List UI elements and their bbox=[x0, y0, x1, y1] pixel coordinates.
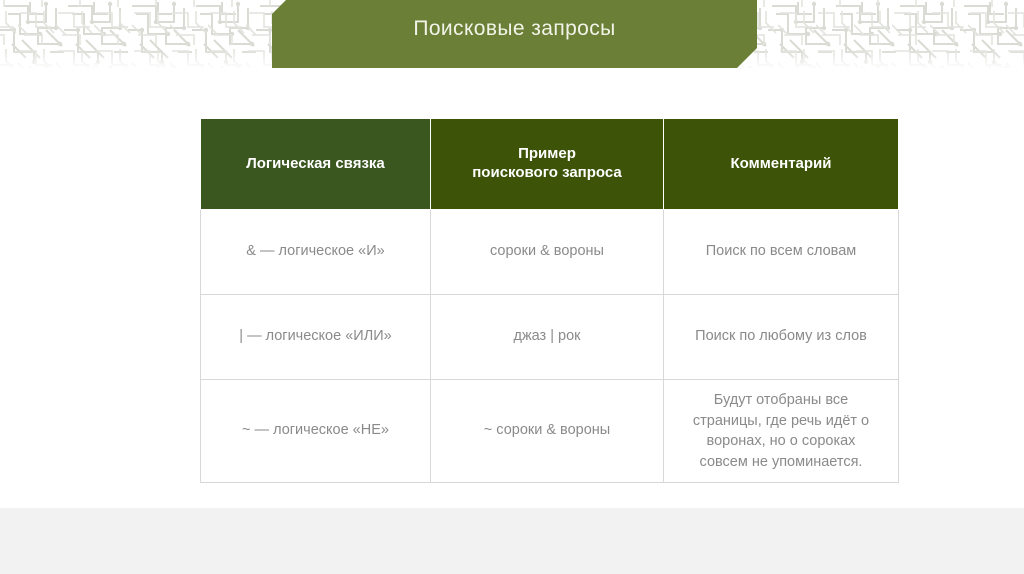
page-title: Поисковые запросы bbox=[413, 17, 615, 51]
search-operators-table: Логическая связка Пример поискового запр… bbox=[200, 118, 899, 483]
column-header-comment: Комментарий bbox=[664, 119, 899, 210]
bottom-band bbox=[0, 508, 1024, 574]
column-header-operator: Логическая связка bbox=[201, 119, 431, 210]
column-header-example: Пример поискового запроса bbox=[431, 119, 664, 210]
cell-comment-3: Будут отобраны все страницы, где речь ид… bbox=[664, 380, 899, 483]
cell-operator-3: ~ — логическое «НЕ» bbox=[201, 380, 431, 483]
column-header-example-line-1: Пример bbox=[439, 145, 655, 164]
cell-comment-3-line-1: Будут отобраны все bbox=[672, 390, 890, 411]
cell-example-2: джаз | рок bbox=[431, 295, 664, 380]
column-header-example-line-2: поискового запроса bbox=[439, 164, 655, 183]
cell-comment-1: Поиск по всем словам bbox=[664, 210, 899, 295]
title-banner: Поисковые запросы bbox=[272, 0, 757, 68]
table-row: & — логическое «И» сороки & вороны Поиск… bbox=[201, 210, 899, 295]
table-row: ~ — логическое «НЕ» ~ сороки & вороны Бу… bbox=[201, 380, 899, 483]
table-row: | — логическое «ИЛИ» джаз | рок Поиск по… bbox=[201, 295, 899, 380]
cell-operator-1: & — логическое «И» bbox=[201, 210, 431, 295]
column-header-operator-line-1: Логическая связка bbox=[209, 155, 422, 174]
cell-example-3: ~ сороки & вороны bbox=[431, 380, 664, 483]
cell-comment-3-line-3: воронах, но о сороках bbox=[672, 431, 890, 452]
table-header-row: Логическая связка Пример поискового запр… bbox=[201, 119, 899, 210]
search-operators-table-wrapper: Логическая связка Пример поискового запр… bbox=[200, 118, 898, 483]
cell-comment-3-line-4: совсем не упоминается. bbox=[672, 452, 890, 473]
cell-comment-3-line-2: страницы, где речь идёт о bbox=[672, 411, 890, 432]
cell-operator-2: | — логическое «ИЛИ» bbox=[201, 295, 431, 380]
table-header: Логическая связка Пример поискового запр… bbox=[201, 119, 899, 210]
cell-comment-2: Поиск по любому из слов bbox=[664, 295, 899, 380]
column-header-comment-line-1: Комментарий bbox=[672, 155, 890, 174]
cell-example-1: сороки & вороны bbox=[431, 210, 664, 295]
table-body: & — логическое «И» сороки & вороны Поиск… bbox=[201, 210, 899, 483]
